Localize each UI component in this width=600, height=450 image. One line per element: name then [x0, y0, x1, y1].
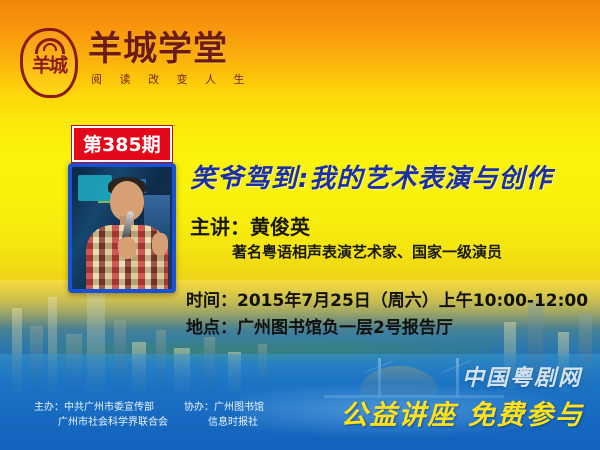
seal-stamp-icon: 羊城	[20, 28, 78, 98]
event-title: 笑爷驾到:我的艺术表演与创作	[190, 158, 552, 195]
cohost-organizer: 协办：广州图书馆	[184, 400, 304, 415]
footer-slogan: 公益讲座 免费参与	[341, 393, 584, 432]
site-watermark: 中国粤剧网	[462, 360, 582, 392]
poster-canvas: 羊城 羊城学堂 阅 读 改 变 人 生 第385期 笑爷驾到:我的艺术表演与创作…	[0, 0, 600, 450]
speaker-photo	[68, 163, 176, 293]
brand-text-block: 羊城学堂 阅 读 改 变 人 生	[88, 28, 251, 87]
event-place: 地点：广州图书馆负一层2号报告厅	[186, 313, 453, 338]
speaker-name: 主讲：黄俊英	[190, 211, 310, 240]
host-organizer: 主办：中共广州市委宣传部	[34, 400, 184, 415]
brand-title: 羊城学堂	[88, 32, 251, 66]
seal-text: 羊城	[32, 51, 66, 78]
cohost-organizer-secondary: 信息时报社	[184, 415, 304, 430]
brand-logo: 羊城 羊城学堂 阅 读 改 变 人 生	[20, 28, 251, 98]
organizers-row: 广州市社会科学界联合会 信息时报社	[34, 415, 304, 430]
brand-slogan: 阅 读 改 变 人 生	[88, 71, 251, 87]
organizers-block: 主办：中共广州市委宣传部 协办：广州图书馆 广州市社会科学界联合会 信息时报社	[34, 400, 304, 430]
photo-hand-right	[152, 233, 168, 255]
organizers-row: 主办：中共广州市委宣传部 协办：广州图书馆	[34, 400, 304, 415]
event-time: 时间：2015年7月25日（周六）上午10:00-12:00	[186, 286, 588, 311]
episode-badge: 第385期	[72, 126, 172, 162]
speaker-description: 著名粤语相声表演艺术家、国家一级演员	[232, 241, 502, 262]
host-organizer-secondary: 广州市社会科学界联合会	[34, 415, 184, 430]
